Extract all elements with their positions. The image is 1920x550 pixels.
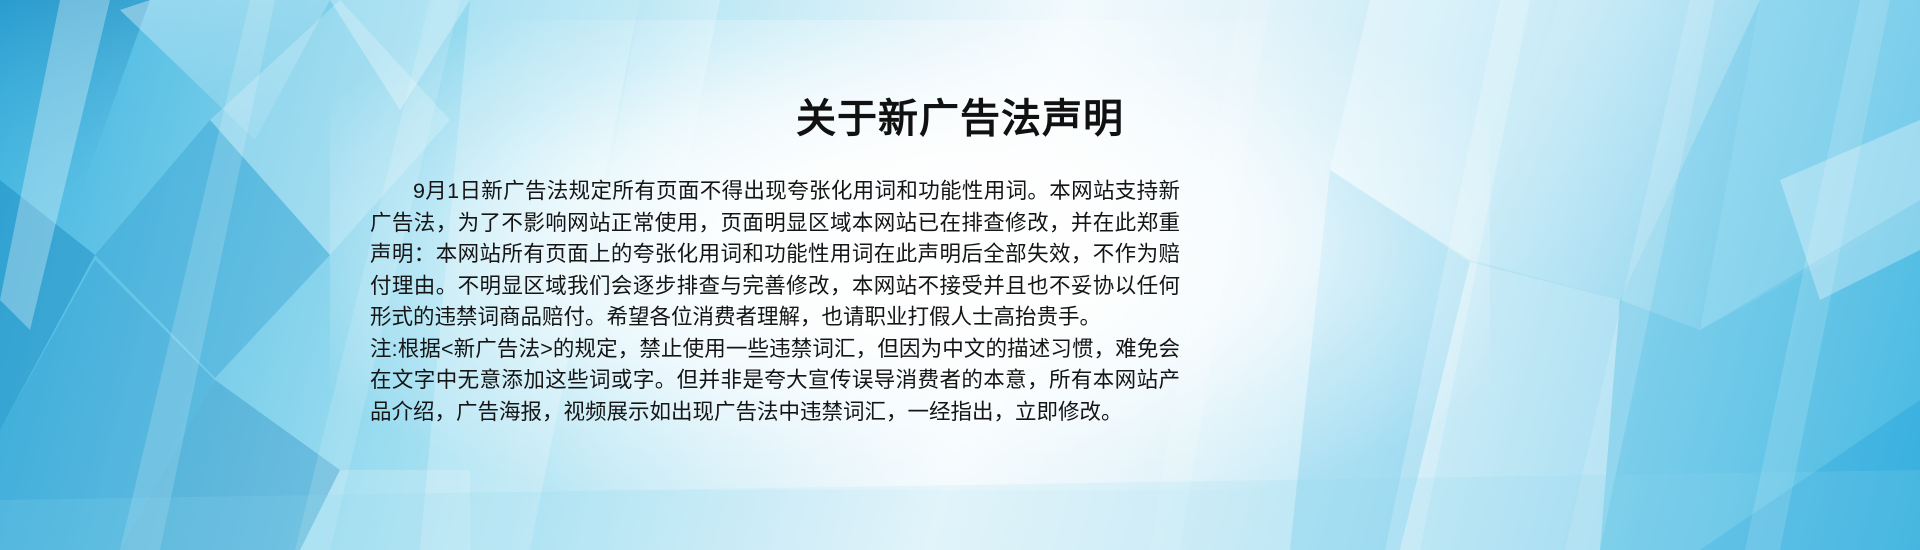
advertising-law-statement-banner: 关于新广告法声明 9月1日新广告法规定所有页面不得出现夸张化用词和功能性用词。本… [0, 0, 1920, 550]
statement-content: 关于新广告法声明 9月1日新广告法规定所有页面不得出现夸张化用词和功能性用词。本… [0, 0, 1920, 550]
statement-body: 9月1日新广告法规定所有页面不得出现夸张化用词和功能性用词。本网站支持新广告法，… [370, 176, 1180, 428]
page-title: 关于新广告法声明 [0, 86, 1920, 144]
statement-paragraph-note: 注:根据<新广告法>的规定，禁止使用一些违禁词汇，但因为中文的描述习惯，难免会在… [370, 334, 1180, 429]
statement-paragraph-1: 9月1日新广告法规定所有页面不得出现夸张化用词和功能性用词。本网站支持新广告法，… [370, 176, 1180, 334]
